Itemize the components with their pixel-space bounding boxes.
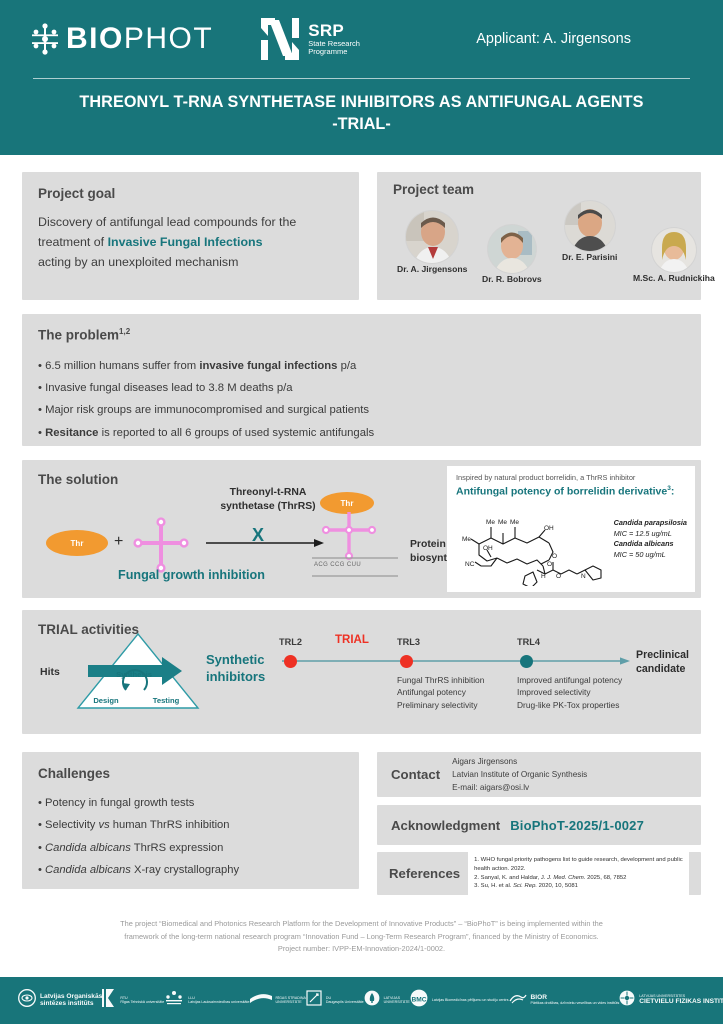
mic-values-block: Candida parapsilosia MIC = 12.5 ug/mL Ca… (614, 518, 687, 560)
goal-line-1: Discovery of antifungal lead compounds f… (38, 215, 296, 229)
partner-sub: Latvijas Biomedicīnas pētījumu un studij… (432, 999, 509, 1003)
references-list: 1. WHO fungal priority pathogens list to… (468, 852, 689, 895)
preclinical-candidate-label: Preclinical candidate (636, 649, 689, 677)
rsu-text: RĪGAS STRADIŅA UNIVERSITĀTE (276, 997, 306, 1005)
references-panel: References 1. WHO fungal priority pathog… (377, 852, 701, 895)
trl-label: TRL3 (397, 637, 420, 647)
du-mark-icon (306, 990, 322, 1011)
bmc-text: Latvijas Biomedicīnas pētījumu un studij… (432, 999, 509, 1003)
plus-sign: + (114, 533, 123, 551)
partner-sub: Rīgas Tehniskā universitāte (120, 1001, 164, 1005)
trl-description: Improved antifungal potency Improved sel… (517, 674, 622, 711)
team-member-name: Dr. R. Bobrovs (482, 274, 542, 284)
challenges-title: Challenges (38, 766, 343, 781)
potency-heading-colon: : (671, 486, 675, 498)
svg-text:O: O (547, 561, 552, 568)
challenge-pre: Potency in fungal growth tests (45, 797, 194, 809)
team-member: Dr. R. Bobrovs (482, 225, 542, 284)
avatar (406, 211, 458, 263)
header-top-bar: BIOPHOT SRP Sta (0, 0, 723, 78)
mic-species: Candida parapsilosia (614, 518, 687, 529)
mrna-strand-icon (312, 556, 398, 583)
bullet-post: p/a (337, 360, 356, 372)
acknowledgment-panel: Acknowledgment BioPhoT-2025/1-0027 (377, 805, 701, 845)
srp-text: SRP State Research Programme (308, 22, 360, 56)
project-goal-panel: Project goal Discovery of antifungal lea… (22, 172, 359, 300)
list-item: Resitance is reported to all 6 groups of… (38, 422, 685, 444)
trl-label: TRL4 (517, 637, 540, 647)
trl-desc-line: Preliminary selectivity (397, 699, 484, 711)
partner-logo-cfi: LATVIJAS UNIVERSITĀTES CIETVIELU FIZIKAS… (619, 990, 723, 1011)
contact-title: Contact (391, 767, 440, 782)
partner-logo-osi: Latvijas Organiskās sintēzes institūts (18, 989, 102, 1012)
biophot-word-light: PHOT (124, 22, 213, 55)
list-item: Candida albicans X-ray crystallography (38, 859, 343, 881)
challenge-post: ThrRS expression (131, 842, 223, 854)
team-members: Dr. A. Jirgensons Dr. R. Bobrovs (389, 197, 689, 289)
trl-desc-line: Drug-like PK-Tox properties (517, 699, 622, 711)
goal-line-2-prefix: treatment of (38, 235, 108, 249)
contact-name: Aigars Jirgensons (452, 755, 587, 768)
goal-line-3: acting by an unexploited mechanism (38, 255, 238, 269)
synthetic-inhibitors-label: Synthetic inhibitors (206, 652, 265, 685)
avatar (565, 201, 615, 251)
ref-text: WHO fungal priority pathogens list to gu… (474, 857, 683, 872)
timeline-axis-icon (282, 654, 630, 673)
contact-details: Aigars Jirgensons Latvian Institute of O… (452, 755, 587, 795)
challenge-italic: Candida albicans (45, 864, 131, 876)
lu-text: LATVIJAS UNIVERSITĀTE (384, 997, 410, 1005)
svg-text:OH: OH (483, 545, 493, 552)
partner-logo-llu: LLU Latvijas Lauksaimniecības universitā… (164, 990, 249, 1011)
mic-value: MIC = 50 ug/mL (614, 550, 687, 561)
biophot-logo: BIOPHOT (30, 22, 213, 56)
list-item: Invasive fungal diseases lead to 3.8 M d… (38, 377, 685, 399)
applicant-label: Applicant: A. Jirgensons (476, 31, 693, 47)
footnote-line-1: The project “Biomedical and Photonics Re… (40, 918, 683, 931)
ref-authors: Sanyal, K. and Haldar, J. (481, 875, 547, 881)
problem-bullet-list: 6.5 million humans suffer from invasive … (38, 355, 685, 444)
partner-sub: Latvijas Lauksaimniecības universitāte (188, 1001, 249, 1005)
fungal-growth-inhibition-label: Fungal growth inhibition (118, 568, 265, 582)
preclinical-line-2: candidate (636, 663, 689, 677)
svg-text:Me: Me (486, 519, 495, 526)
borrelidin-structure-icon: MeMeMe OH Me OH O NC H O O N (457, 500, 607, 591)
trl-description: Fungal ThrRS inhibition Antifungal poten… (397, 674, 484, 711)
trl-label: TRL2 (279, 637, 302, 647)
bullet-post: is reported to all 6 groups of used syst… (98, 427, 374, 439)
hits-label: Hits (40, 666, 60, 678)
trl-desc-line: Fungal ThrRS inhibition (397, 674, 484, 686)
trial-activities-panel: TRIAL activities Hits Synthesis Design T… (22, 610, 701, 734)
llu-text: LLU Latvijas Lauksaimniecības universitā… (188, 997, 249, 1005)
du-text: DU Daugavpils Universitāte (326, 997, 364, 1005)
ref-journal: J. Med. Chem. (547, 875, 585, 881)
trl-dot (284, 655, 297, 668)
srp-line2: Programme (308, 48, 360, 56)
team-member-name: M.Sc. A. Rudnickiha (633, 273, 715, 283)
codon-labels: ACG CCG CUU (314, 562, 361, 568)
team-member-name: Dr. A. Jirgensons (397, 264, 467, 274)
svg-text:Me: Me (462, 536, 471, 543)
list-item: Candida albicans ThrRS expression (38, 837, 343, 859)
partner-sub: Daugavpils Universitāte (326, 1001, 364, 1005)
partner-sub: UNIVERSITĀTE (276, 1001, 306, 1005)
challenge-post: X-ray crystallography (131, 864, 239, 876)
llu-mark-icon (164, 990, 184, 1011)
list-item: 1. WHO fungal priority pathogens list to… (474, 856, 683, 874)
partner-logo-rtu: RTU Rīgas Tehniskā universitāte (102, 989, 164, 1012)
footnote-line-3: Project number: IVPP-EM-Innovation-2024/… (40, 943, 683, 956)
partner-logo-bmc: BMC Latvijas Biomedicīnas pētījumu un st… (410, 989, 509, 1012)
rtu-mark-icon (102, 989, 116, 1012)
team-member: M.Sc. A. Rudnickiha (633, 228, 715, 283)
project-goal-text: Discovery of antifungal lead compounds f… (38, 212, 343, 272)
preclinical-line-1: Preclinical (636, 649, 689, 663)
trl-desc-line: Improved selectivity (517, 686, 622, 698)
ref-authors: Su, H. et al. (481, 883, 513, 889)
srp-logo: SRP State Research Programme (259, 16, 360, 62)
mic-species: Candida albicans (614, 539, 687, 550)
partner-logo-lu: LATVIJAS UNIVERSITĀTE (364, 990, 410, 1011)
svg-text:N: N (581, 573, 586, 580)
enzyme-line-2: synthetase (ThrRS) (198, 500, 338, 514)
team-member: Dr. A. Jirgensons (397, 211, 467, 274)
problem-title-text: The problem (38, 328, 119, 343)
project-goal-title: Project goal (38, 186, 343, 201)
lu-mark-icon (364, 990, 380, 1011)
team-member: Dr. E. Parisini (562, 201, 617, 262)
bior-text: BIOR Pārtikas drošības, dzīvnieku veselī… (531, 995, 620, 1006)
rsu-mark-icon (250, 991, 272, 1010)
acknowledgment-title: Acknowledgment (391, 818, 500, 833)
borrelidin-inset-panel: Inspired by natural product borrelidin, … (447, 466, 695, 592)
svg-text:H: H (541, 573, 546, 580)
svg-text:OH: OH (544, 525, 554, 532)
svg-text:O: O (552, 553, 557, 560)
bior-mark-icon (509, 991, 527, 1010)
srp-abbr: SRP (308, 22, 360, 40)
mic-value: MIC = 12.5 ug/mL (614, 529, 687, 540)
ref-citation: 2025, 68, 7852 (585, 875, 626, 881)
design-synthesis-testing-cycle-icon: Synthesis Design Testing (74, 630, 202, 717)
osi-text: Latvijas Organiskās sintēzes institūts (40, 994, 102, 1008)
partner-logo-bar: Latvijas Organiskās sintēzes institūts R… (0, 977, 723, 1024)
trl-dot (400, 655, 413, 668)
svg-text:BMC: BMC (411, 996, 426, 1003)
svg-text:NC: NC (465, 561, 475, 568)
trl-desc-line: Antifungal potency (397, 686, 484, 698)
poster-root: BIOPHOT SRP Sta (0, 0, 723, 1024)
team-member-name: Dr. E. Parisini (562, 252, 617, 262)
poster-header: BIOPHOT SRP Sta (0, 0, 723, 155)
inspired-by-text: Inspired by natural product borrelidin, … (456, 473, 686, 482)
list-item: 2. Sanyal, K. and Haldar, J. J. Med. Che… (474, 874, 683, 883)
avatar (652, 228, 696, 272)
svg-text:Design: Design (93, 696, 119, 705)
contact-email[interactable]: E-mail: aigars@osi.lv (452, 781, 587, 794)
biophot-word-bold: BIO (66, 22, 124, 55)
bullet-pre: Invasive fungal diseases lead to 3.8 M d… (45, 382, 292, 394)
thr-substrate-left: Thr (46, 530, 108, 556)
trl-desc-line: Improved antifungal potency (517, 674, 622, 686)
svg-text:Testing: Testing (153, 696, 180, 705)
bmc-mark-icon: BMC (410, 989, 428, 1012)
partner-sub: Pārtikas drošības, dzīvnieku veselības u… (531, 1002, 620, 1006)
osi-mark-icon (18, 989, 36, 1012)
synthetic-line-1: Synthetic (206, 652, 265, 669)
trl-timeline: TRL2 TRIAL TRL3 Fungal ThrRS inhibition … (272, 632, 692, 722)
synthetic-line-2: inhibitors (206, 669, 265, 686)
challenge-pre: Selectivity (45, 819, 98, 831)
acknowledgment-code: BioPhoT-2025/1-0027 (510, 818, 644, 833)
enzyme-label: Threonyl-t-RNA synthetase (ThrRS) (198, 486, 338, 513)
funding-footnote: The project “Biomedical and Photonics Re… (40, 918, 683, 956)
biophot-mark-icon (30, 22, 60, 56)
enzyme-line-1: Threonyl-t-RNA (198, 486, 338, 500)
goal-highlight: Invasive Fungal Infections (108, 235, 263, 249)
trial-badge: TRIAL (335, 634, 369, 646)
partner-sub: sintēzes institūts (40, 1001, 102, 1008)
problem-title-superscript: 1,2 (119, 327, 130, 336)
svg-text:Me: Me (498, 519, 507, 526)
challenge-post: human ThrRS inhibition (110, 819, 230, 831)
list-item: 6.5 million humans suffer from invasive … (38, 355, 685, 377)
problem-panel: The problem1,2 6.5 million humans suffer… (22, 314, 701, 446)
partner-logo-rsu: RĪGAS STRADIŅA UNIVERSITĀTE (250, 991, 306, 1010)
bullet-bold: invasive fungal infections (199, 360, 337, 372)
potency-heading-text: Antifungal potency of borrelidin derivat… (456, 486, 667, 498)
svg-text:O: O (556, 573, 561, 580)
trl-dot (520, 655, 533, 668)
ref-citation: 2020, 10, 5081 (537, 883, 578, 889)
page-title: THREONYL T-RNA SYNTHETASE INHIBITORS AS … (0, 92, 723, 114)
cfi-text: LATVIJAS UNIVERSITĀTES CIETVIELU FIZIKAS… (639, 995, 723, 1006)
list-item: 3. Su, H. et al. Sci. Rep. 2020, 10, 508… (474, 882, 683, 891)
references-title: References (389, 866, 460, 881)
rtu-text: RTU Rīgas Tehniskā universitāte (120, 997, 164, 1005)
project-team-panel: Project team Dr. A. Jirgensons (377, 172, 701, 300)
challenge-italic: vs (99, 819, 110, 831)
reaction-arrow-icon (206, 530, 324, 561)
bullet-bold: Resitance (45, 427, 98, 439)
page-subtitle: -TRIAL- (0, 114, 723, 136)
challenge-italic: Candida albicans (45, 842, 131, 854)
problem-title: The problem1,2 (38, 327, 685, 343)
footnote-line-2: framework of the long-term national rese… (40, 931, 683, 944)
contact-institute: Latvian Institute of Organic Synthesis (452, 768, 587, 781)
srp-mark-icon (259, 16, 301, 62)
avatar (488, 225, 536, 273)
cfi-mark-icon (619, 990, 635, 1011)
bullet-pre: Major risk groups are immunocompromised … (45, 404, 369, 416)
partner-sub: CIETVIELU FIZIKAS INSTITŪTS (639, 999, 723, 1006)
biophot-wordmark: BIOPHOT (66, 22, 213, 56)
bullet-pre: 6.5 million humans suffer from (45, 360, 199, 372)
partner-sub: UNIVERSITĀTE (384, 1001, 410, 1005)
challenges-list: Potency in fungal growth tests Selectivi… (38, 792, 343, 882)
poster-title-block: THREONYL T-RNA SYNTHETASE INHIBITORS AS … (0, 79, 723, 136)
list-item: Selectivity vs human ThrRS inhibition (38, 814, 343, 836)
potency-heading: Antifungal potency of borrelidin derivat… (456, 485, 686, 498)
ref-journal: Sci. Rep. (513, 883, 537, 889)
partner-logo-du: DU Daugavpils Universitāte (306, 990, 364, 1011)
list-item: Potency in fungal growth tests (38, 792, 343, 814)
list-item: Major risk groups are immunocompromised … (38, 399, 685, 421)
challenges-panel: Challenges Potency in fungal growth test… (22, 752, 359, 889)
partner-logo-bior: BIOR Pārtikas drošības, dzīvnieku veselī… (509, 991, 620, 1010)
contact-panel: Contact Aigars Jirgensons Latvian Instit… (377, 752, 701, 797)
project-team-title: Project team (393, 182, 689, 197)
blocked-cross-icon: X (252, 525, 264, 546)
svg-text:Me: Me (510, 519, 519, 526)
